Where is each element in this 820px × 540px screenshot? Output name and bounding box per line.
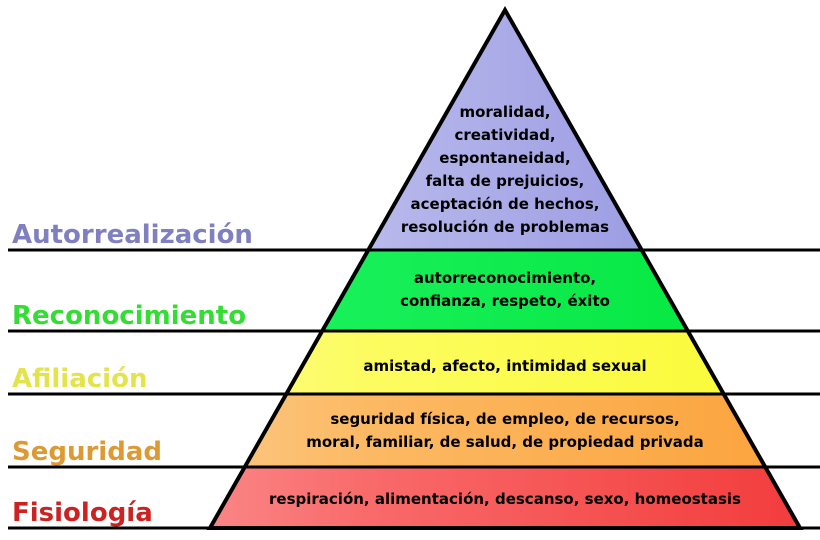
tier-label-reconocimiento: Reconocimiento bbox=[12, 301, 246, 331]
tier-line: moralidad, bbox=[459, 103, 550, 121]
tier-label-seguridad: Seguridad bbox=[12, 437, 162, 467]
tier-labels: Autorrealización Reconocimiento Afiliaci… bbox=[12, 220, 253, 528]
tier-text-afiliacion: amistad, afecto, intimidad sexual bbox=[363, 357, 646, 375]
tier-line: confianza, respeto, éxito bbox=[400, 292, 610, 310]
tier-text-fisiologia: respiración, alimentación, descanso, sex… bbox=[269, 490, 741, 508]
tier-line: moral, familiar, de salud, de propiedad … bbox=[306, 433, 704, 451]
tier-line: falta de prejuicios, bbox=[426, 172, 585, 190]
tier-line: amistad, afecto, intimidad sexual bbox=[363, 357, 646, 375]
tier-line: seguridad física, de empleo, de recursos… bbox=[330, 410, 679, 428]
tier-line: autorreconocimiento, bbox=[414, 269, 596, 287]
tier-line: resolución de problemas bbox=[401, 218, 609, 236]
pyramid-svg: moralidad, creatividad, espontaneidad, f… bbox=[0, 0, 820, 540]
tier-line: aceptación de hechos, bbox=[411, 195, 600, 213]
maslow-pyramid-diagram: moralidad, creatividad, espontaneidad, f… bbox=[0, 0, 820, 540]
tier-line: creatividad, bbox=[454, 126, 555, 144]
tier-line: espontaneidad, bbox=[439, 149, 570, 167]
tier-label-afiliacion: Afiliación bbox=[12, 364, 147, 394]
tier-label-fisiologia: Fisiología bbox=[12, 498, 153, 528]
tier-label-autorrealizacion: Autorrealización bbox=[12, 220, 253, 250]
tier-line: respiración, alimentación, descanso, sex… bbox=[269, 490, 741, 508]
